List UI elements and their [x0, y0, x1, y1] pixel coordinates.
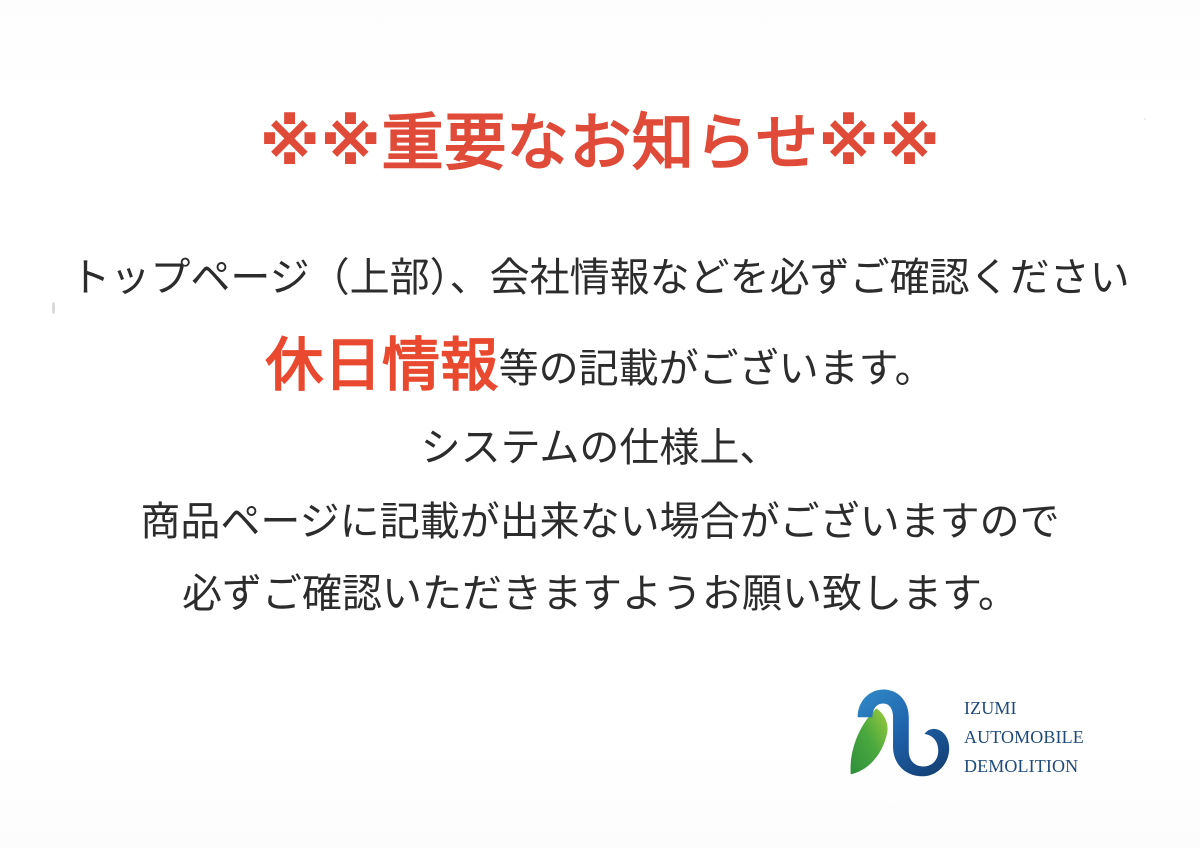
notice-document: ※※重要なお知らせ※※ トップページ（上部）、会社情報などを必ずご確認ください … — [0, 0, 1200, 848]
logo-wordmark-line-1: Izumi — [964, 692, 1084, 721]
izumi-swirl-leaf-mark-icon — [836, 676, 954, 794]
notice-body-line-1: トップページ（上部）、会社情報などを必ずご確認ください — [0, 258, 1200, 298]
logo-wordmark-line-3: Demolition — [964, 750, 1084, 779]
notice-headline: ※※重要なお知らせ※※ — [0, 108, 1200, 177]
notice-body-line-5: 必ずご確認いただきますようお願い致します。 — [0, 574, 1200, 614]
logo-wordmark-line-2: Automobile — [964, 721, 1084, 750]
logo-wordmark: Izumi Automobile Demolition — [964, 692, 1084, 779]
notice-body-line-2-rest: 等の記載がございます。 — [499, 346, 935, 392]
notice-body-line-4: 商品ページに記載が出来ない場合がございますので — [0, 502, 1200, 542]
notice-body: トップページ（上部）、会社情報などを必ずご確認ください 休日情報等の記載がござい… — [0, 258, 1200, 614]
holiday-info-emphasis: 休日情報 — [265, 331, 498, 399]
company-logo: Izumi Automobile Demolition — [836, 672, 1136, 798]
notice-body-line-3: システムの仕様上、 — [0, 428, 1200, 468]
notice-body-line-2: 休日情報等の記載がございます。 — [0, 336, 1200, 394]
